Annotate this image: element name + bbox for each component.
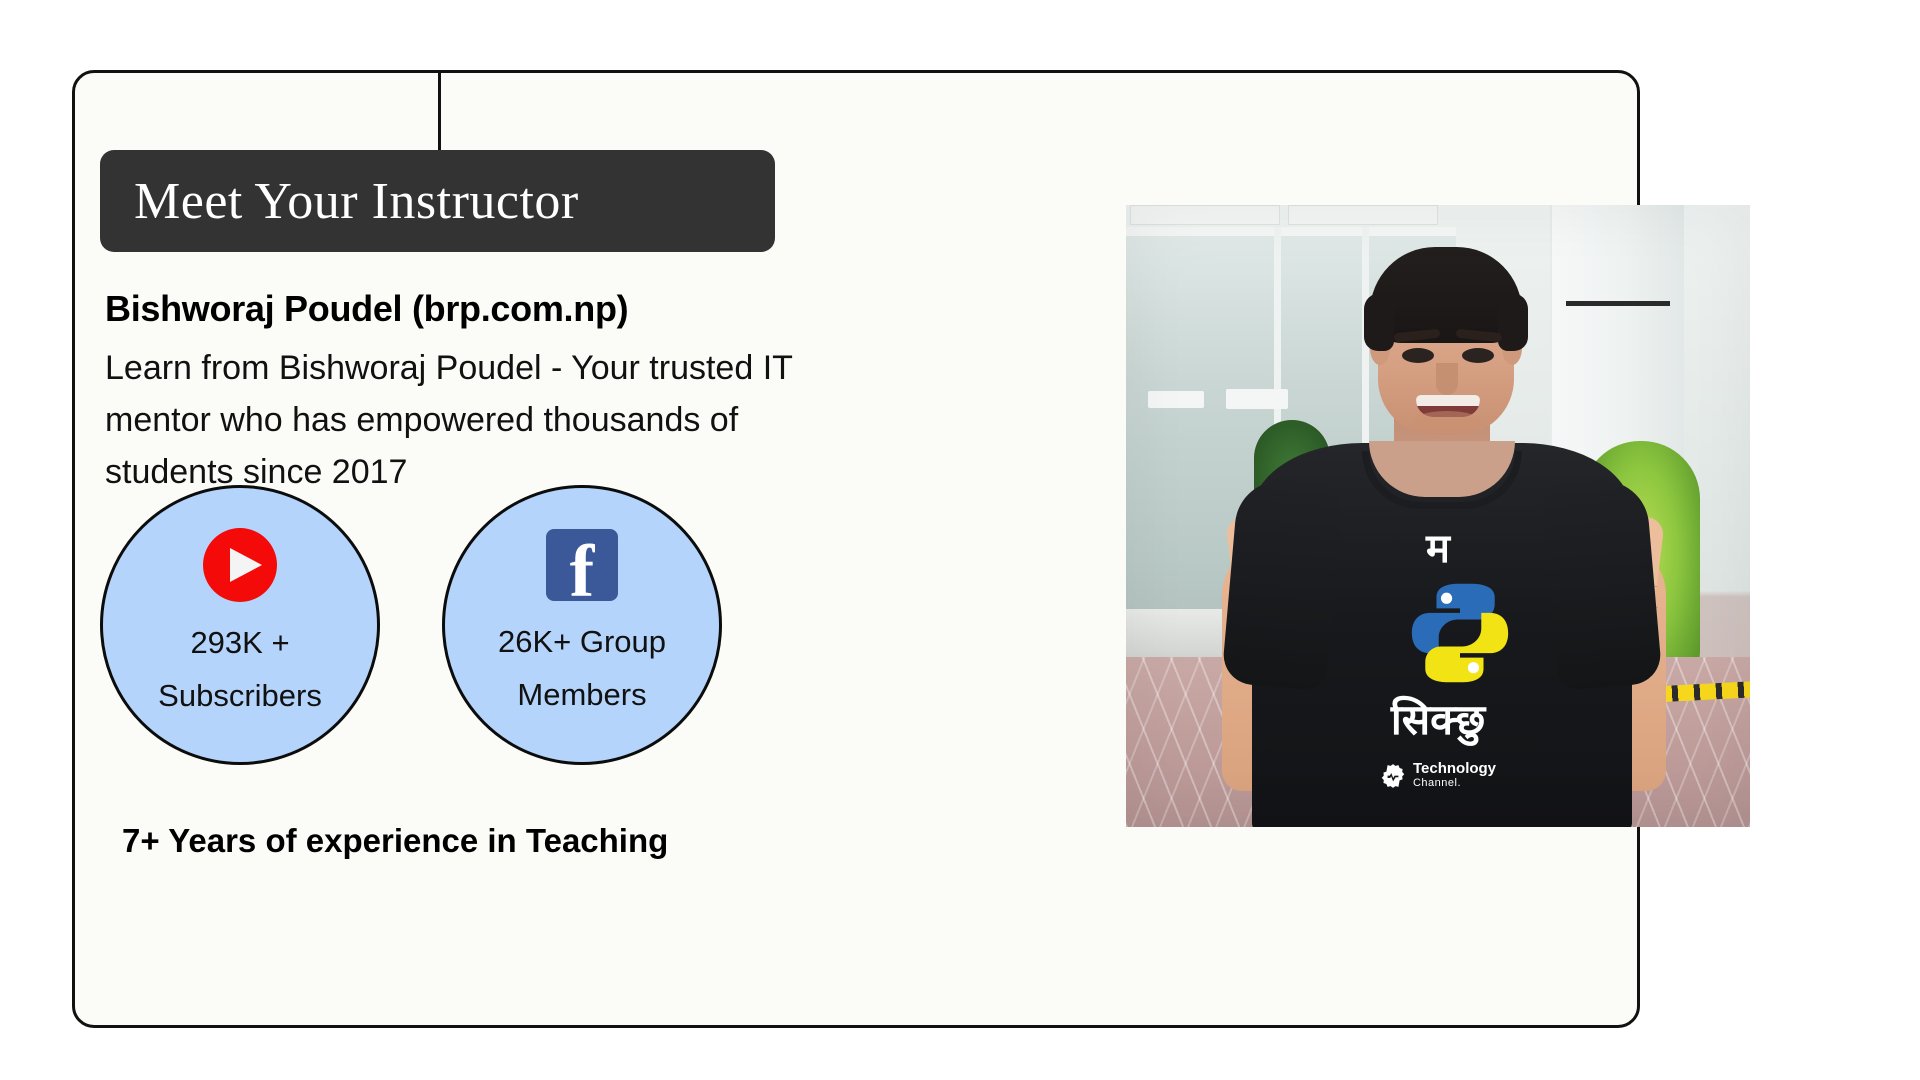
stat-facebook-line1: 26K+ Group: [498, 615, 666, 668]
stat-youtube-line1: 293K +: [190, 616, 289, 669]
photo-sleeve-left: [1221, 477, 1343, 691]
instructor-photo: म सिक्छु Technology Channel.: [1126, 205, 1750, 827]
photo-chin: [1414, 411, 1480, 431]
slide-root: Meet Your Instructor Bishworaj Poudel (b…: [0, 0, 1920, 1080]
badge-connector-line: [438, 70, 441, 152]
photo-pillar-stripe: [1566, 301, 1670, 306]
gear-icon: [1380, 763, 1406, 789]
photo-glass-top-panel: [1130, 205, 1280, 225]
stat-facebook[interactable]: f 26K+ Group Members: [442, 485, 722, 765]
stat-facebook-line2: Members: [517, 668, 646, 721]
python-logo: [1404, 577, 1516, 689]
facebook-icon: f: [546, 529, 618, 601]
youtube-play-icon: [203, 528, 277, 602]
stats-row: 293K + Subscribers f 26K+ Group Members: [100, 485, 722, 765]
tshirt-print-line1: म: [1126, 529, 1750, 569]
photo-eye-left: [1402, 348, 1434, 363]
photo-eye-right: [1462, 348, 1494, 363]
facebook-f-glyph: f: [546, 535, 618, 601]
photo-sign: [1148, 391, 1204, 408]
badge-label: Meet Your Instructor: [100, 172, 579, 231]
meet-your-instructor-badge: Meet Your Instructor: [100, 150, 775, 252]
photo-nose: [1436, 363, 1458, 395]
stat-youtube[interactable]: 293K + Subscribers: [100, 485, 380, 765]
photo-sign: [1226, 389, 1288, 409]
instructor-name: Bishworaj Poudel (brp.com.np): [105, 288, 628, 330]
tshirt-print-line2: सिक्छु: [1126, 697, 1750, 743]
photo-sleeve-right: [1541, 477, 1663, 691]
tshirt-brand: Technology Channel.: [1126, 761, 1750, 791]
tshirt-brand-line1: Technology: [1413, 761, 1496, 776]
stat-youtube-line2: Subscribers: [158, 669, 322, 722]
instructor-description: Learn from Bishworaj Poudel - Your trust…: [105, 342, 865, 498]
tshirt-brand-line2: Channel.: [1413, 776, 1496, 791]
experience-line: 7+ Years of experience in Teaching: [122, 822, 668, 860]
photo-glass-top-panel: [1288, 205, 1438, 225]
